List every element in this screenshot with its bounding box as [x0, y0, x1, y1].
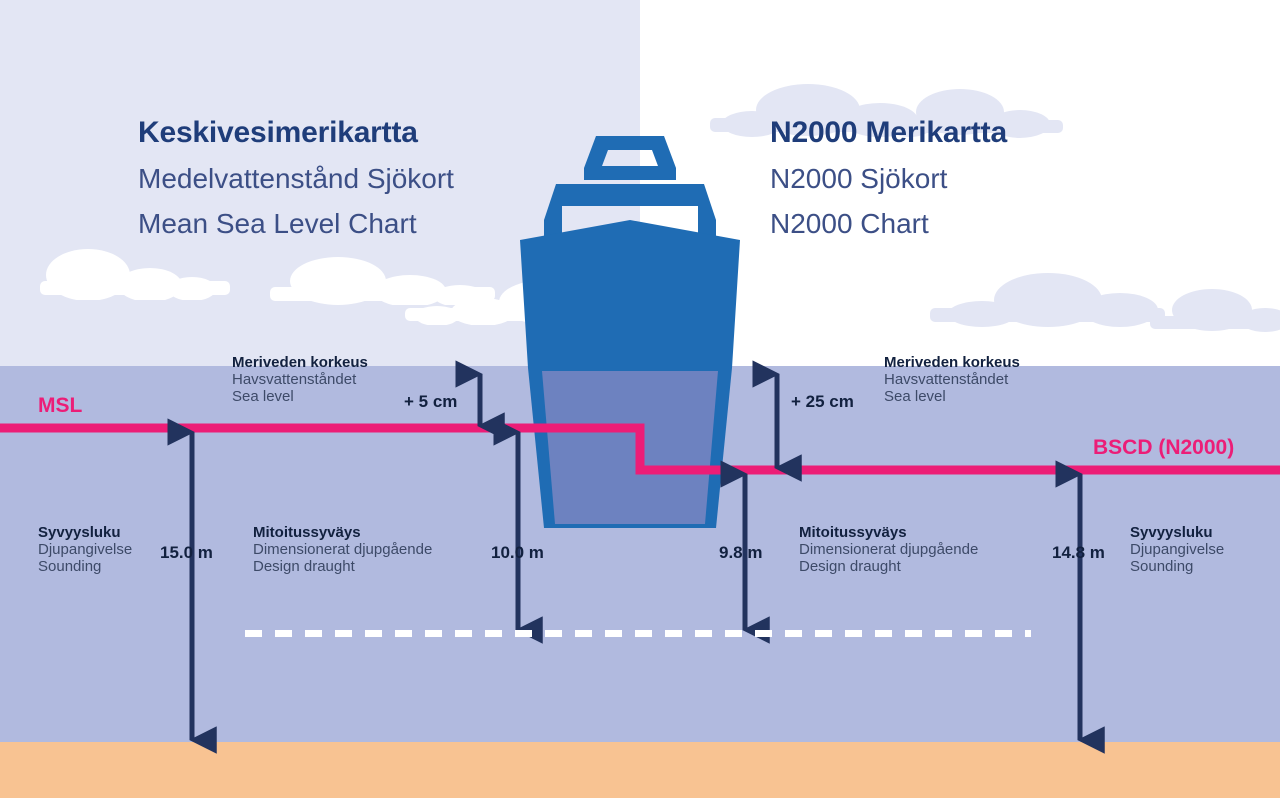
sounding-note-right: Syvyysluku Djupangivelse Sounding [1130, 525, 1224, 575]
left-title-en: Mean Sea Level Chart [138, 210, 454, 238]
design-draught-note-left: Mitoitussyväys Dimensionerat djupgående … [253, 525, 432, 575]
bscd-datum-label: BSCD (N2000) [1093, 436, 1234, 460]
sea-level-label-fi: Meriveden korkeus [884, 355, 1020, 372]
design-draught-label-fi: Mitoitussyväys [799, 525, 978, 542]
cloud-icon [1150, 288, 1280, 333]
right-title-en: N2000 Chart [770, 210, 1007, 238]
sounding-label-fi: Syvyysluku [1130, 525, 1224, 542]
sounding-label-sv: Djupangivelse [38, 542, 132, 559]
cloud-icon [40, 245, 230, 300]
design-draught-label-en: Design draught [799, 559, 978, 576]
sea-level-label-sv: Havsvattenståndet [232, 372, 368, 389]
sea-level-label-en: Sea level [884, 389, 1020, 406]
design-draught-label-fi: Mitoitussyväys [253, 525, 432, 542]
sounding-label-sv: Djupangivelse [1130, 542, 1224, 559]
design-draught-level-line [245, 630, 1031, 637]
left-chart-title-block: Keskivesimerikartta Medelvattenstånd Sjö… [138, 118, 454, 238]
right-title-fi: N2000 Merikartta [770, 118, 1007, 148]
diagram-canvas: Keskivesimerikartta Medelvattenstånd Sjö… [0, 0, 1280, 798]
msl-datum-label: MSL [38, 394, 82, 418]
sounding-value-right: 14.8 m [1052, 543, 1105, 563]
sea-level-value-left: + 5 cm [404, 392, 457, 412]
sounding-label-en: Sounding [38, 559, 132, 576]
sounding-label-en: Sounding [1130, 559, 1224, 576]
design-draught-note-right: Mitoitussyväys Dimensionerat djupgående … [799, 525, 978, 575]
design-draught-label-sv: Dimensionerat djupgående [799, 542, 978, 559]
sea-level-label-en: Sea level [232, 389, 368, 406]
right-title-sv: N2000 Sjökort [770, 165, 1007, 193]
design-draught-value-left: 10.0 m [491, 543, 544, 563]
sounding-value-left: 15.0 m [160, 543, 213, 563]
left-title-fi: Keskivesimerikartta [138, 118, 454, 148]
sounding-note-left: Syvyysluku Djupangivelse Sounding [38, 525, 132, 575]
ship-illustration [500, 128, 760, 528]
sea-level-note-right: Meriveden korkeus Havsvattenståndet Sea … [884, 355, 1020, 405]
sea-level-note-left: Meriveden korkeus Havsvattenståndet Sea … [232, 355, 368, 405]
sea-level-label-fi: Meriveden korkeus [232, 355, 368, 372]
left-title-sv: Medelvattenstånd Sjökort [138, 165, 454, 193]
design-draught-label-en: Design draught [253, 559, 432, 576]
right-chart-title-block: N2000 Merikartta N2000 Sjökort N2000 Cha… [770, 118, 1007, 238]
design-draught-label-sv: Dimensionerat djupgående [253, 542, 432, 559]
seabed-sand [0, 742, 1280, 798]
design-draught-value-right: 9.8 m [719, 543, 762, 563]
cloud-icon [930, 272, 1165, 327]
sounding-label-fi: Syvyysluku [38, 525, 132, 542]
sea-level-label-sv: Havsvattenståndet [884, 372, 1020, 389]
sea-level-value-right: + 25 cm [791, 392, 854, 412]
